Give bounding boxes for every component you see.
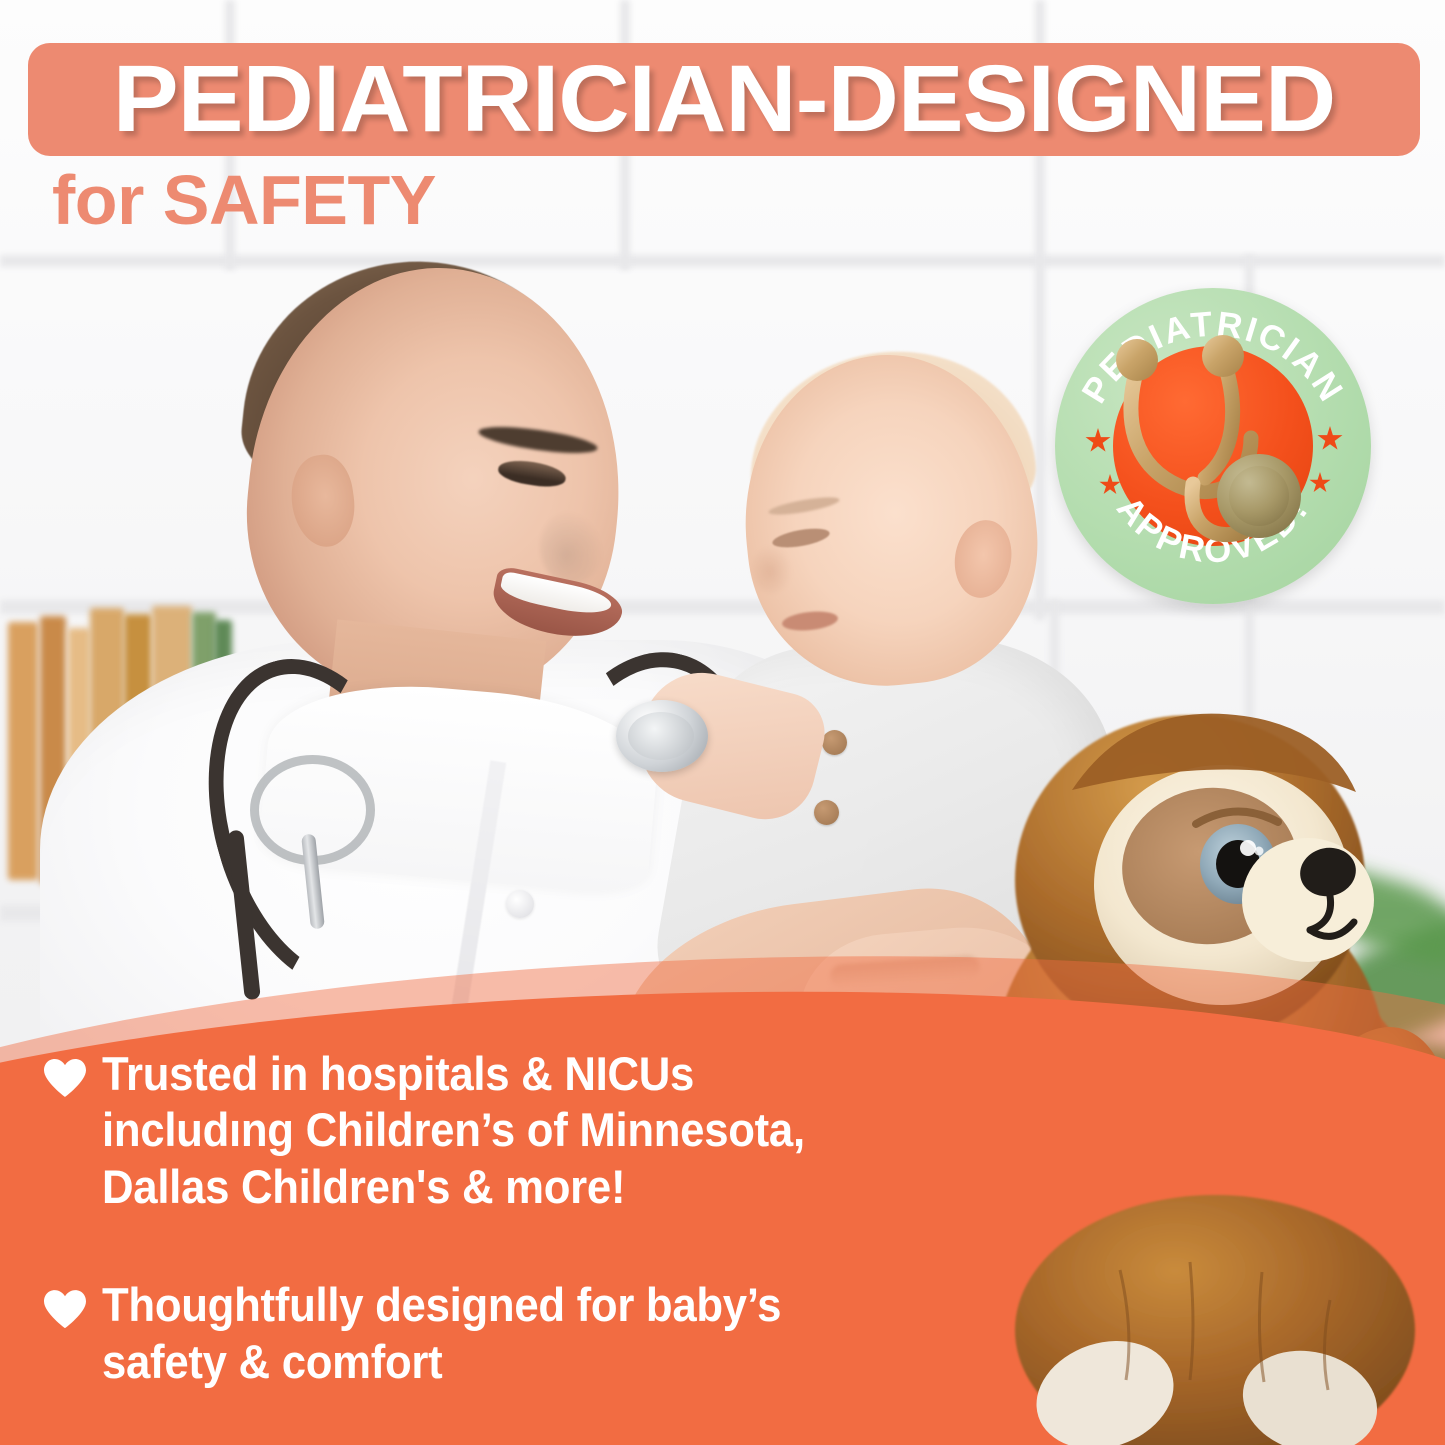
list-item: Thoughtfully designed for baby’s safety … xyxy=(44,1277,944,1390)
benefit-text: Thoughtfully designed for baby’s safety … xyxy=(102,1277,781,1390)
sloth-eye-highlight xyxy=(1255,847,1264,856)
pediatrician-approved-badge: PEDIATRICIAN APPROVED! xyxy=(1055,288,1371,604)
stethoscope-icon xyxy=(1101,326,1331,571)
header-subtitle: for SAFETY xyxy=(52,160,436,240)
page-title: PEDIATRICIAN-DESIGNED xyxy=(0,43,1445,156)
sloth-eye-highlight xyxy=(1240,840,1256,856)
benefit-text: Trusted in hospitals & NICUs includıng C… xyxy=(102,1046,805,1215)
heart-bullet-icon xyxy=(44,1059,86,1097)
header-banner: PEDIATRICIAN-DESIGNED xyxy=(28,43,1420,156)
marketing-infographic: Trusted in hospitals & NICUs includıng C… xyxy=(0,0,1445,1445)
benefits-list: Trusted in hospitals & NICUs includıng C… xyxy=(44,1046,944,1390)
list-item: Trusted in hospitals & NICUs includıng C… xyxy=(44,1046,944,1215)
heart-bullet-icon xyxy=(44,1290,86,1328)
